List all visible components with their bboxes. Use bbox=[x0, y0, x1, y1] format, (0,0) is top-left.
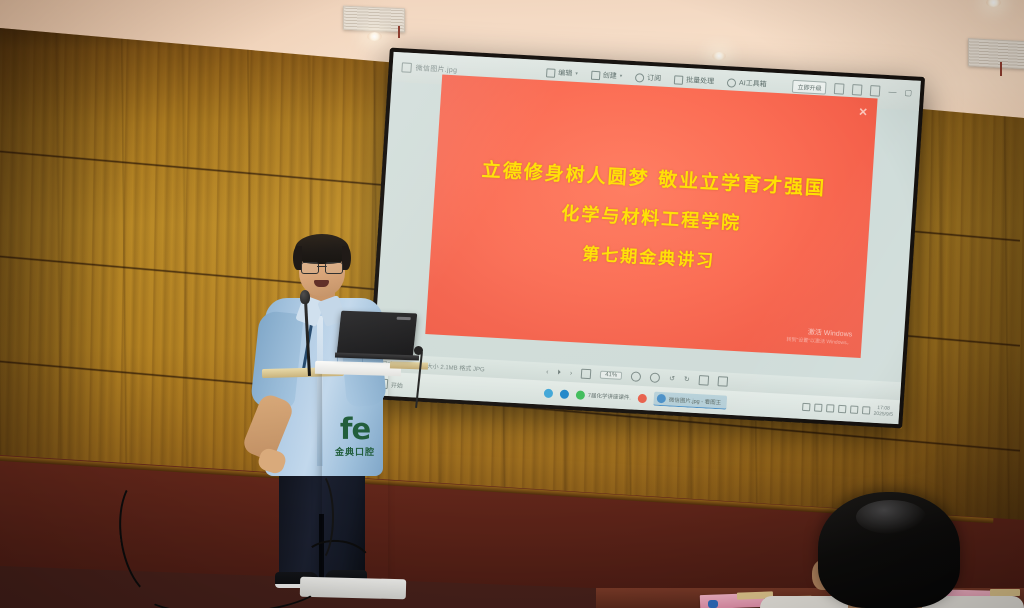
hamburger-icon[interactable] bbox=[852, 84, 863, 96]
taskbar-item-label: 微信图片.jpg - 看图王 bbox=[669, 395, 722, 406]
volume-icon[interactable] bbox=[826, 404, 835, 412]
image-file-icon bbox=[401, 62, 412, 73]
help-icon[interactable] bbox=[870, 85, 881, 97]
trash-icon[interactable] bbox=[698, 375, 709, 386]
chevron-right-icon[interactable]: › bbox=[570, 370, 573, 377]
taskbar-item-search-icon[interactable] bbox=[544, 388, 554, 397]
downlight-icon bbox=[367, 32, 382, 41]
taskbar-item-wechat[interactable]: 7届化学讲座课件. bbox=[576, 390, 632, 402]
screen-surface: 微信图片.jpg 编辑 ▾ 创建 ▾ 订阅 bbox=[371, 52, 921, 424]
upgrade-button[interactable]: 立即升级 bbox=[792, 80, 827, 95]
menu-item-subscribe[interactable]: 订阅 bbox=[635, 72, 662, 83]
taskbar-item-photos-icon[interactable] bbox=[638, 393, 648, 402]
more-icon[interactable] bbox=[717, 376, 728, 387]
chevron-down-icon: ▾ bbox=[620, 73, 623, 79]
file-name-label: 微信图片.jpg bbox=[415, 63, 457, 75]
second-microphone-icon bbox=[414, 346, 423, 355]
zoom-level-selector[interactable]: 41% bbox=[600, 371, 623, 380]
rotate-right-icon[interactable]: ↻ bbox=[684, 376, 690, 383]
battery-icon[interactable] bbox=[814, 403, 823, 411]
podium-ledge-right bbox=[390, 361, 428, 369]
file-name-tag: 微信图片.jpg bbox=[401, 62, 457, 75]
glasses-icon bbox=[301, 262, 343, 272]
taskbar-item-viewer[interactable]: 微信图片.jpg - 看图王 bbox=[653, 392, 727, 410]
windows-activation-watermark: 激活 Windows 转到"设置"以激活 Windows。 bbox=[786, 327, 852, 347]
menu-item-edit[interactable]: 编辑 ▾ bbox=[546, 67, 578, 79]
menu-item-ai-toolbox[interactable]: AI工具箱 bbox=[727, 77, 767, 89]
vent-rod bbox=[1000, 62, 1002, 76]
account-icon[interactable] bbox=[834, 83, 845, 95]
zoom-in-icon[interactable] bbox=[650, 372, 661, 383]
projection-screen: 微信图片.jpg 编辑 ▾ 创建 ▾ 订阅 bbox=[367, 48, 925, 429]
logo-text: 金典口腔 bbox=[330, 445, 380, 458]
downlight-icon bbox=[712, 52, 726, 60]
taskbar-item-edge-icon[interactable] bbox=[560, 389, 570, 398]
menu-label: 创建 bbox=[602, 70, 617, 81]
menu-label: 编辑 bbox=[558, 68, 573, 79]
edit-icon bbox=[546, 68, 556, 77]
menu-label: AI工具箱 bbox=[739, 78, 767, 89]
mouth bbox=[314, 280, 329, 287]
chevron-down-icon: ▾ bbox=[575, 71, 578, 77]
zoom-out-icon[interactable] bbox=[631, 371, 642, 382]
microphone-icon bbox=[300, 290, 310, 304]
subscribe-icon bbox=[635, 73, 645, 82]
audience-hair-highlight bbox=[856, 500, 926, 534]
create-icon bbox=[590, 70, 600, 79]
viewer-icon bbox=[657, 394, 667, 403]
input-method-icon[interactable] bbox=[861, 406, 870, 414]
system-tray: 17:08 2025/9/5 bbox=[801, 401, 893, 419]
lecture-hall-photo: 微信图片.jpg 编辑 ▾ 创建 ▾ 订阅 bbox=[0, 0, 1024, 608]
slide-line-3: 第七期金典讲习 bbox=[582, 240, 716, 272]
taskbar-clock[interactable]: 17:08 2025/9/5 bbox=[873, 405, 893, 419]
hair-side-right bbox=[342, 246, 351, 270]
fit-to-window-icon[interactable] bbox=[581, 369, 592, 380]
podium-cable bbox=[300, 470, 334, 564]
menu-item-batch[interactable]: 批量处理 bbox=[674, 74, 715, 86]
menu-item-create[interactable]: 创建 ▾ bbox=[590, 70, 622, 82]
maximize-button[interactable]: ▢ bbox=[904, 88, 912, 96]
network-icon[interactable] bbox=[802, 403, 811, 411]
cloud-icon[interactable] bbox=[837, 405, 846, 413]
slideshow-icon[interactable]: ⏵ bbox=[557, 369, 561, 376]
batch-icon bbox=[674, 75, 684, 84]
laptop-brand-logo bbox=[397, 317, 411, 320]
ai-toolbox-icon bbox=[727, 78, 737, 87]
presentation-slide: 立德修身树人圆梦 敬业立学育才强国 化学与材料工程学院 第七期金典讲习 ✕ 激活… bbox=[425, 75, 877, 358]
menu-label: 订阅 bbox=[647, 73, 662, 84]
vent-rod bbox=[398, 26, 400, 38]
podium-top-surface bbox=[315, 361, 401, 376]
air-vent-icon bbox=[968, 38, 1024, 70]
air-vent-icon bbox=[343, 6, 405, 33]
slide-line-1: 立德修身树人圆梦 敬业立学育才强国 bbox=[481, 155, 827, 201]
podium-logo: fe 金典口腔 bbox=[330, 416, 380, 458]
up-arrow-icon[interactable] bbox=[849, 405, 858, 413]
close-icon[interactable]: ✕ bbox=[858, 105, 868, 118]
taskbar-apps: 7届化学讲座课件. 微信图片.jpg - 看图王 bbox=[544, 386, 728, 410]
clock-date: 2025/9/5 bbox=[873, 411, 893, 418]
water-bottle bbox=[708, 600, 718, 608]
logo-mark: fe bbox=[330, 416, 380, 442]
lens-right bbox=[325, 262, 343, 274]
menu-label: 批量处理 bbox=[686, 75, 715, 87]
laptop-screen bbox=[337, 311, 418, 358]
name-card bbox=[990, 589, 1020, 596]
hair bbox=[295, 234, 349, 264]
rotate-left-icon[interactable]: ↺ bbox=[669, 375, 675, 382]
minimize-button[interactable]: — bbox=[888, 88, 897, 96]
wechat-icon bbox=[576, 390, 586, 399]
lens-left bbox=[301, 262, 319, 274]
taskbar-item-label: 7届化学讲座课件. bbox=[588, 391, 632, 401]
slide-line-2: 化学与材料工程学院 bbox=[561, 199, 742, 235]
chevron-left-icon[interactable]: ‹ bbox=[546, 368, 549, 375]
